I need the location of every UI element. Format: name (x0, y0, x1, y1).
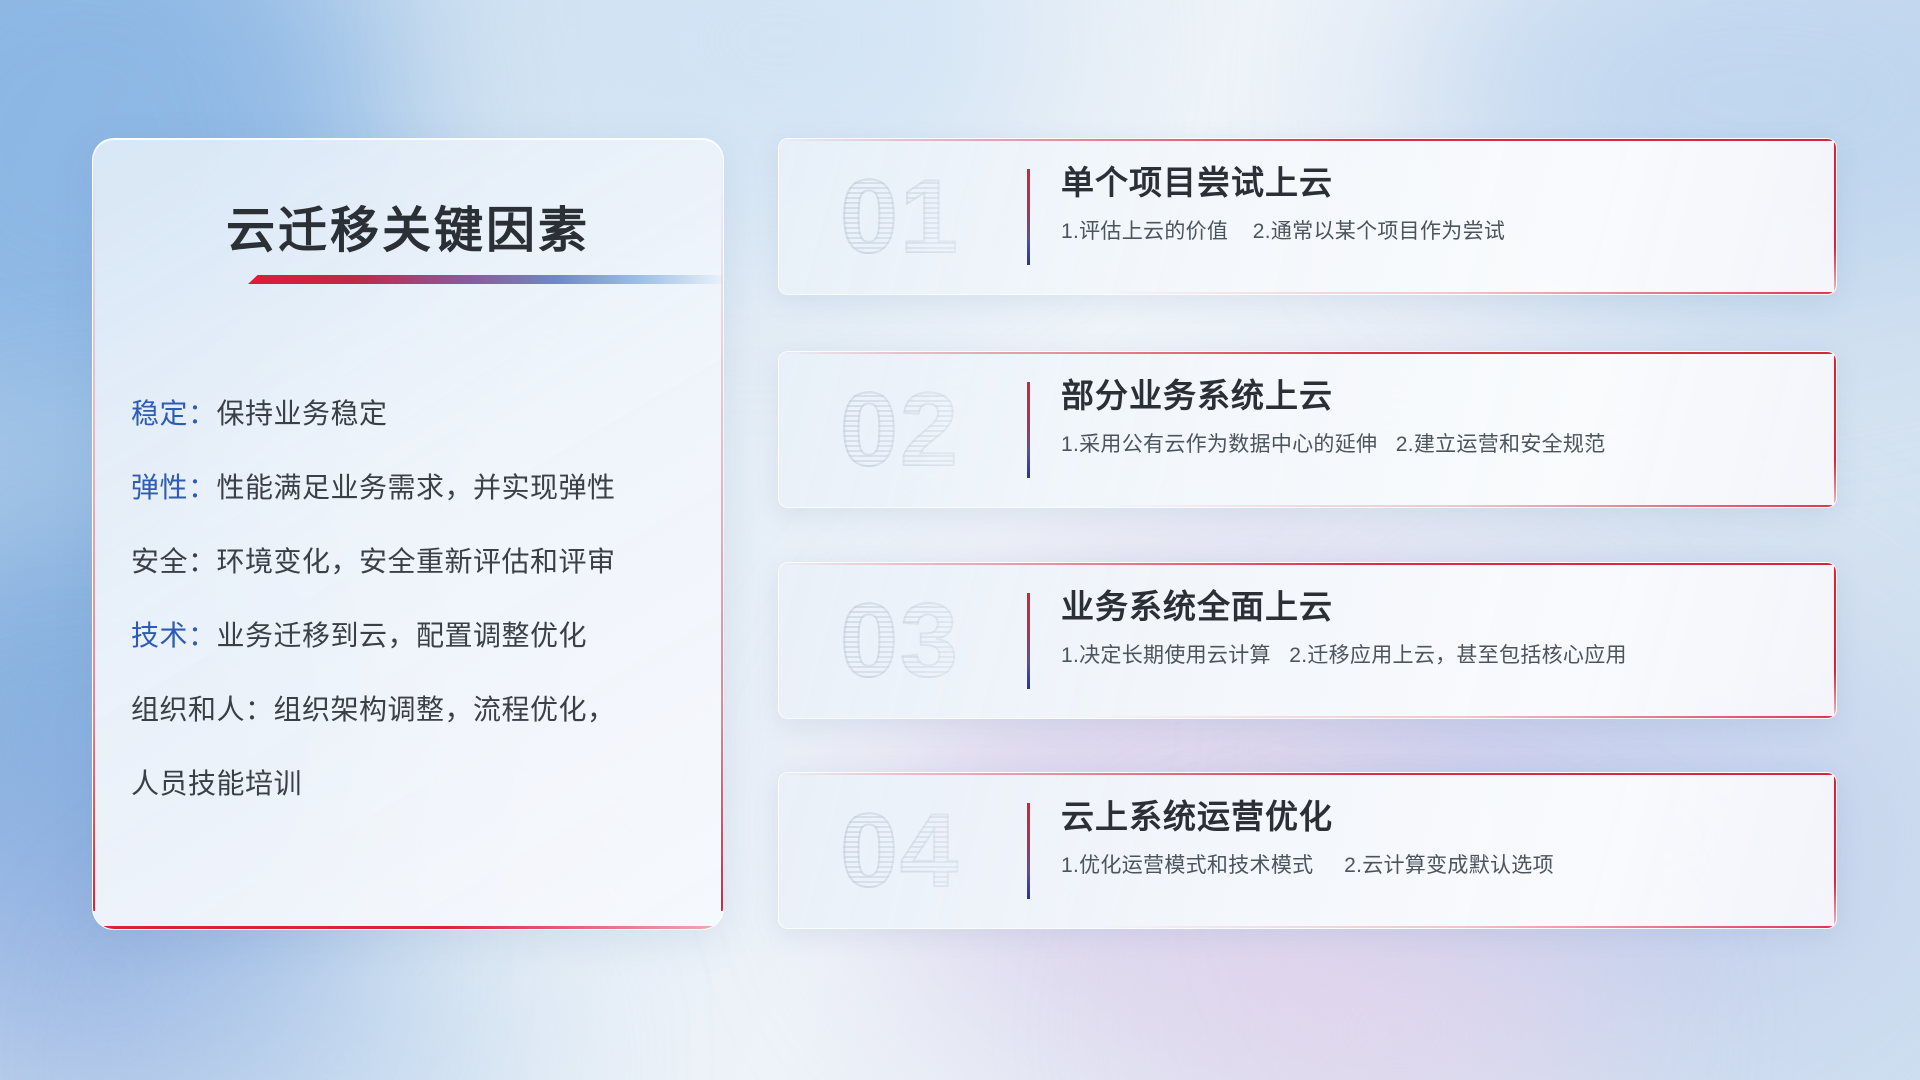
list-item-text: 人员技能培训 (131, 768, 302, 799)
step-number: 04 (805, 791, 995, 911)
list-item: 组织和人：组织架构调整，流程优化， (131, 673, 697, 747)
step-number: 03 (805, 581, 995, 701)
step-text-block: 云上系统运营优化 1.优化运营模式和技术模式 2.云计算变成默认选项 (1061, 793, 1796, 885)
list-item-text: 组织架构调整，流程优化， (274, 694, 616, 725)
page-title: 云迁移关键因素 (93, 191, 723, 262)
card-bottom-accent (779, 292, 1836, 294)
list-item-continuation: 人员技能培训 (131, 747, 697, 821)
list-item-text: 保持业务稳定 (217, 398, 388, 429)
step-divider (1027, 803, 1030, 899)
step-number: 01 (805, 157, 995, 277)
step-card-01[interactable]: 01 单个项目尝试上云 1.评估上云的价值 2.通常以某个项目作为尝试 (778, 138, 1837, 295)
list-item-text: 性能满足业务需求，并实现弹性 (217, 472, 616, 503)
step-description: 1.决定长期使用云计算 2.迁移应用上云，甚至包括核心应用 (1061, 637, 1796, 675)
list-item-key: 弹性： (131, 472, 217, 503)
step-divider (1027, 169, 1030, 265)
card-right-accent (1834, 563, 1836, 718)
card-bottom-accent (779, 926, 1836, 928)
card-bottom-accent (779, 505, 1836, 507)
step-title: 云上系统运营优化 (1061, 793, 1796, 841)
card-right-accent (1834, 139, 1836, 294)
step-card-03[interactable]: 03 业务系统全面上云 1.决定长期使用云计算 2.迁移应用上云，甚至包括核心应… (778, 562, 1837, 719)
card-right-accent (1834, 352, 1836, 507)
list-item: 弹性：性能满足业务需求，并实现弹性 (131, 451, 697, 525)
list-item: 稳定：保持业务稳定 (131, 377, 697, 451)
list-item: 技术：业务迁移到云，配置调整优化 (131, 599, 697, 673)
card-top-accent (779, 139, 1836, 141)
list-item-key: 技术： (131, 620, 217, 651)
card-top-accent (779, 352, 1836, 354)
card-bottom-accent (779, 716, 1836, 718)
list-item-key: 组织和人： (131, 694, 274, 725)
card-right-accent (1834, 773, 1836, 928)
key-factors-panel: 云迁移关键因素 稳定：保持业务稳定 弹性：性能满足业务需求，并实现弹性 安全：环… (92, 138, 724, 930)
step-divider (1027, 593, 1030, 689)
step-title: 单个项目尝试上云 (1061, 159, 1796, 207)
panel-left-accent (93, 157, 95, 911)
step-divider (1027, 382, 1030, 478)
list-item-key: 安全： (131, 546, 217, 577)
title-underline-accent (248, 275, 724, 284)
step-text-block: 单个项目尝试上云 1.评估上云的价值 2.通常以某个项目作为尝试 (1061, 159, 1796, 251)
list-item-text: 环境变化，安全重新评估和评审 (217, 546, 616, 577)
step-description: 1.采用公有云作为数据中心的延伸 2.建立运营和安全规范 (1061, 426, 1796, 464)
card-top-accent (779, 773, 1836, 775)
panel-right-accent (721, 157, 723, 911)
step-title: 业务系统全面上云 (1061, 583, 1796, 631)
step-description: 1.评估上云的价值 2.通常以某个项目作为尝试 (1061, 213, 1796, 251)
step-card-02[interactable]: 02 部分业务系统上云 1.采用公有云作为数据中心的延伸 2.建立运营和安全规范 (778, 351, 1837, 508)
key-factors-list: 稳定：保持业务稳定 弹性：性能满足业务需求，并实现弹性 安全：环境变化，安全重新… (131, 377, 697, 821)
step-card-04[interactable]: 04 云上系统运营优化 1.优化运营模式和技术模式 2.云计算变成默认选项 (778, 772, 1837, 929)
list-item-key: 稳定： (131, 398, 217, 429)
step-title: 部分业务系统上云 (1061, 372, 1796, 420)
step-description: 1.优化运营模式和技术模式 2.云计算变成默认选项 (1061, 847, 1796, 885)
list-item-text: 业务迁移到云，配置调整优化 (217, 620, 588, 651)
step-text-block: 业务系统全面上云 1.决定长期使用云计算 2.迁移应用上云，甚至包括核心应用 (1061, 583, 1796, 675)
card-top-accent (779, 563, 1836, 565)
step-text-block: 部分业务系统上云 1.采用公有云作为数据中心的延伸 2.建立运营和安全规范 (1061, 372, 1796, 464)
step-number: 02 (805, 370, 995, 490)
list-item: 安全：环境变化，安全重新评估和评审 (131, 525, 697, 599)
